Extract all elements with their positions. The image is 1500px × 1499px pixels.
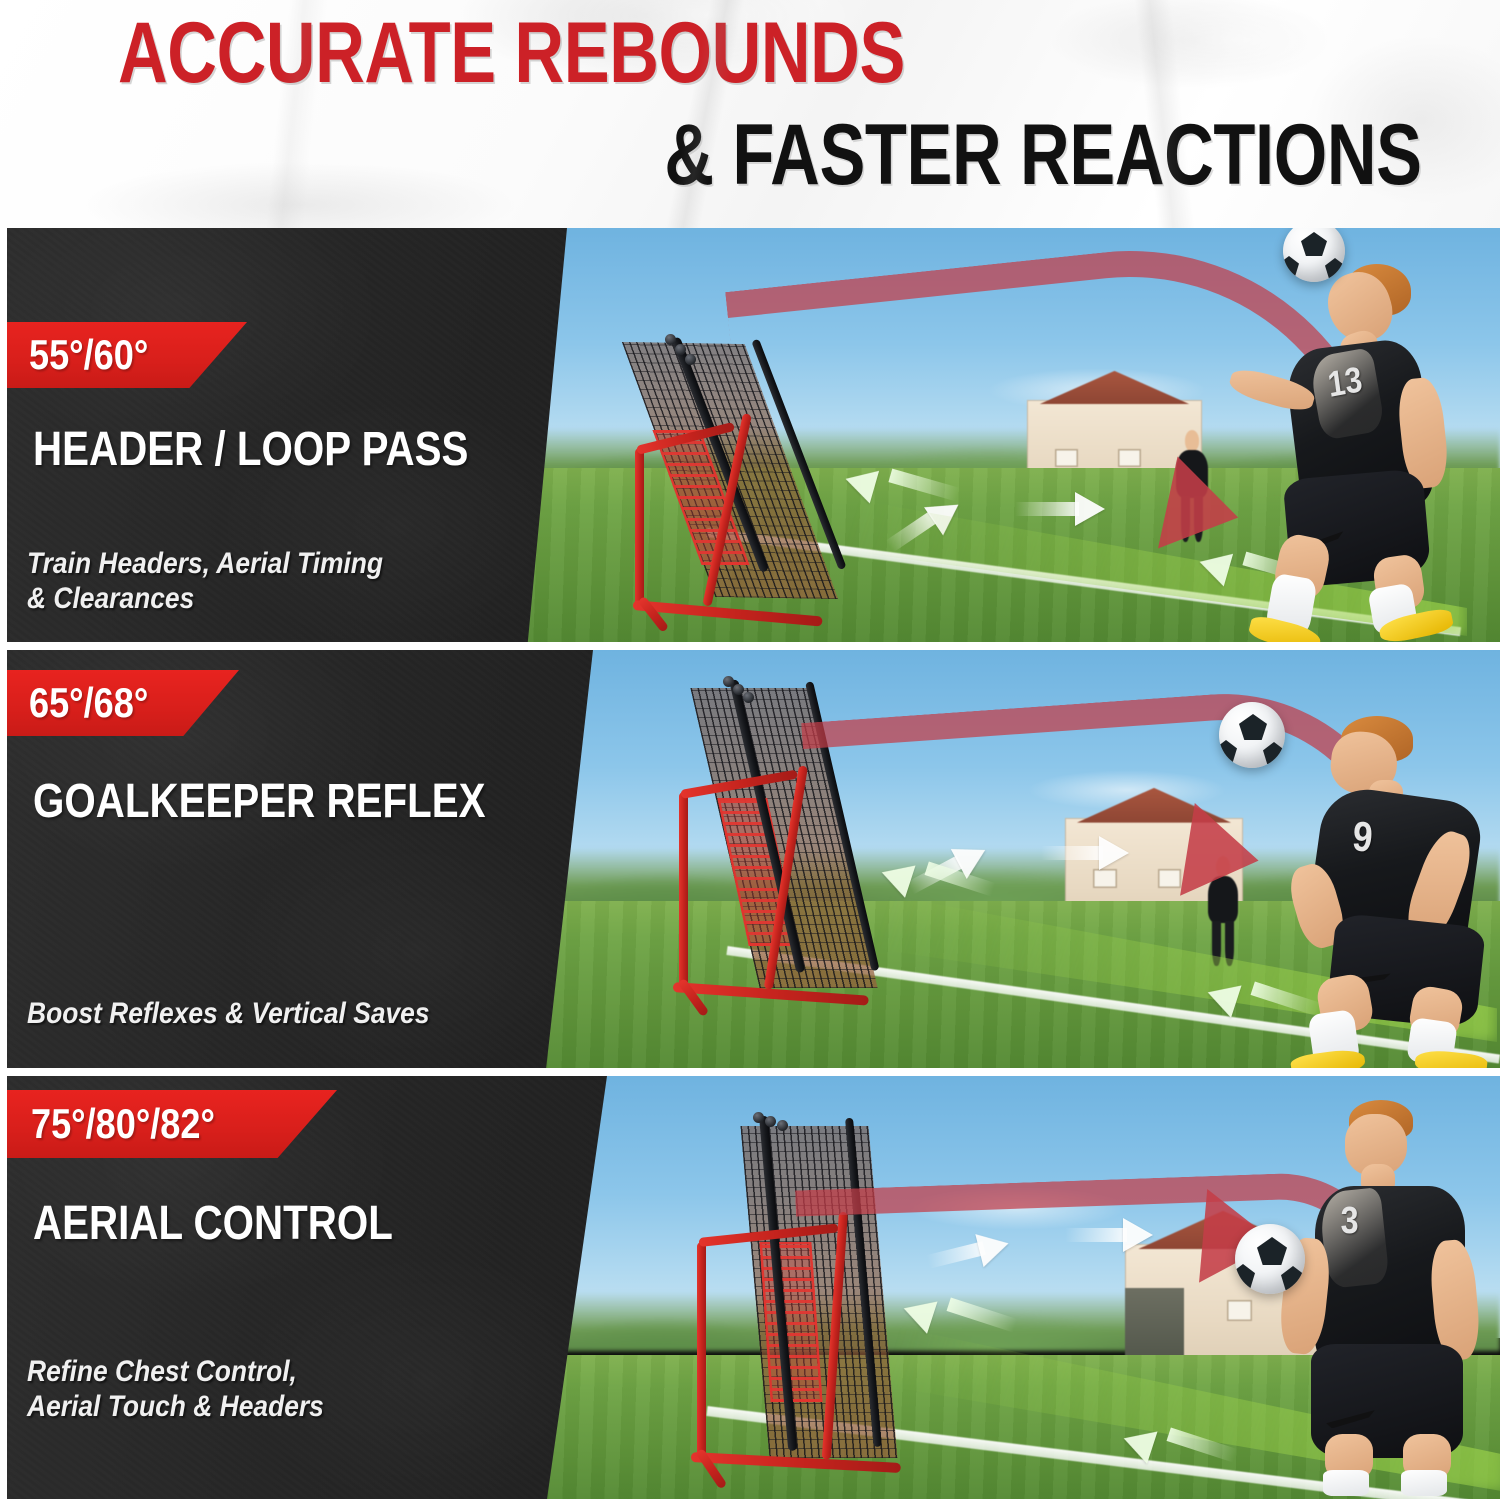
player-jersey-number: 9 — [1351, 815, 1374, 859]
player-jersey-number: 13 — [1326, 361, 1364, 403]
rebounder-spring — [723, 676, 734, 687]
player-figure: 13 — [1215, 236, 1485, 642]
panel-subtitle: Boost Reflexes & Vertical Saves — [27, 996, 430, 1031]
player-sock — [1401, 1470, 1447, 1496]
rebounder-spring — [753, 1112, 764, 1123]
panel-subtitle: Train Headers, Aerial Timing & Clearance… — [27, 546, 383, 616]
trajectory-chevron — [1075, 492, 1105, 526]
panel-title: AERIAL CONTROL — [33, 1200, 393, 1248]
panel-subtitle-line: Train Headers, Aerial Timing — [27, 546, 383, 581]
soccer-ball — [1235, 1224, 1305, 1294]
ball-panel — [1263, 742, 1285, 764]
rebounder-upright — [635, 448, 644, 608]
headline-primary: ACCURATE REBOUNDS — [118, 10, 905, 96]
rebounder-spring — [685, 354, 696, 365]
ball-panel — [1219, 740, 1237, 762]
feature-panel-goalkeeper-reflex: 9 65°/68° GOALKEEPER REFLEX Boost Reflex… — [7, 650, 1500, 1068]
feature-panel-aerial-control: 3 75°/80°/82° AERIAL CONTROL Refine Ches… — [7, 1076, 1500, 1499]
ball-panel — [1235, 1264, 1255, 1288]
soccer-ball — [1283, 228, 1345, 282]
ball-panel — [1301, 232, 1327, 256]
trajectory-chevron-tail — [1041, 846, 1103, 860]
ball-panel — [1239, 714, 1267, 740]
panel-text-block: 65°/68° GOALKEEPER REFLEX Boost Reflexes… — [7, 650, 593, 1068]
trajectory-chevron-tail — [1015, 502, 1079, 516]
angle-badge: 55°/60° — [7, 322, 247, 388]
texture-wisp — [1120, 0, 1360, 80]
panel-text-block: 55°/60° HEADER / LOOP PASS Train Headers… — [7, 228, 567, 642]
panel-subtitle-line: Refine Chest Control, — [27, 1354, 324, 1389]
headline-secondary: & FASTER REACTIONS — [665, 112, 1422, 198]
angle-badge-label: 55°/60° — [29, 334, 148, 376]
player-sock — [1323, 1470, 1369, 1496]
player-jersey-number: 3 — [1341, 1202, 1359, 1240]
trajectory-chevron-tail — [1065, 1228, 1127, 1242]
angle-badge: 65°/68° — [7, 670, 239, 736]
angle-badge-label: 65°/68° — [29, 682, 148, 724]
angle-badge-label: 75°/80°/82° — [31, 1103, 215, 1145]
soccer-ball — [1219, 702, 1285, 768]
panel-subtitle: Refine Chest Control, Aerial Touch & Hea… — [27, 1354, 324, 1424]
player-figure: 9 — [1245, 704, 1495, 1068]
trajectory-chevron — [1099, 836, 1129, 870]
rebounder-upright — [679, 792, 688, 992]
rebounder-spring — [675, 344, 686, 355]
panel-subtitle-line: Boost Reflexes & Vertical Saves — [27, 996, 430, 1031]
trajectory-chevron — [1123, 1218, 1153, 1252]
brand-swoosh-icon — [1326, 1410, 1375, 1428]
ball-panel — [1281, 1266, 1305, 1290]
ball-panel — [1257, 1237, 1287, 1265]
panel-title: GOALKEEPER REFLEX — [33, 778, 486, 826]
player-figure: 3 — [1263, 1090, 1500, 1498]
angle-badge: 75°/80°/82° — [7, 1090, 337, 1158]
house-window — [1227, 1300, 1252, 1320]
panel-text-block: 75°/80°/82° AERIAL CONTROL Refine Chest … — [7, 1076, 607, 1499]
feature-panel-header-loop-pass: 13 55°/60° HEADER / LOOP PASS Train Head… — [7, 228, 1500, 642]
panel-subtitle-line: & Clearances — [27, 581, 383, 616]
rebounder-spring — [765, 1116, 776, 1127]
rebounder-spring — [733, 684, 744, 695]
rebounder-upright — [697, 1242, 706, 1460]
panel-title: HEADER / LOOP PASS — [33, 426, 468, 474]
ball-panel — [1325, 258, 1345, 278]
header-banner: ACCURATE REBOUNDS & FASTER REACTIONS — [0, 0, 1500, 228]
panel-subtitle-line: Aerial Touch & Headers — [27, 1389, 324, 1424]
rebounder-spring — [777, 1120, 788, 1131]
ball-panel — [1283, 256, 1299, 276]
rebounder-spring — [743, 692, 754, 703]
rebounder-spring — [665, 334, 676, 345]
